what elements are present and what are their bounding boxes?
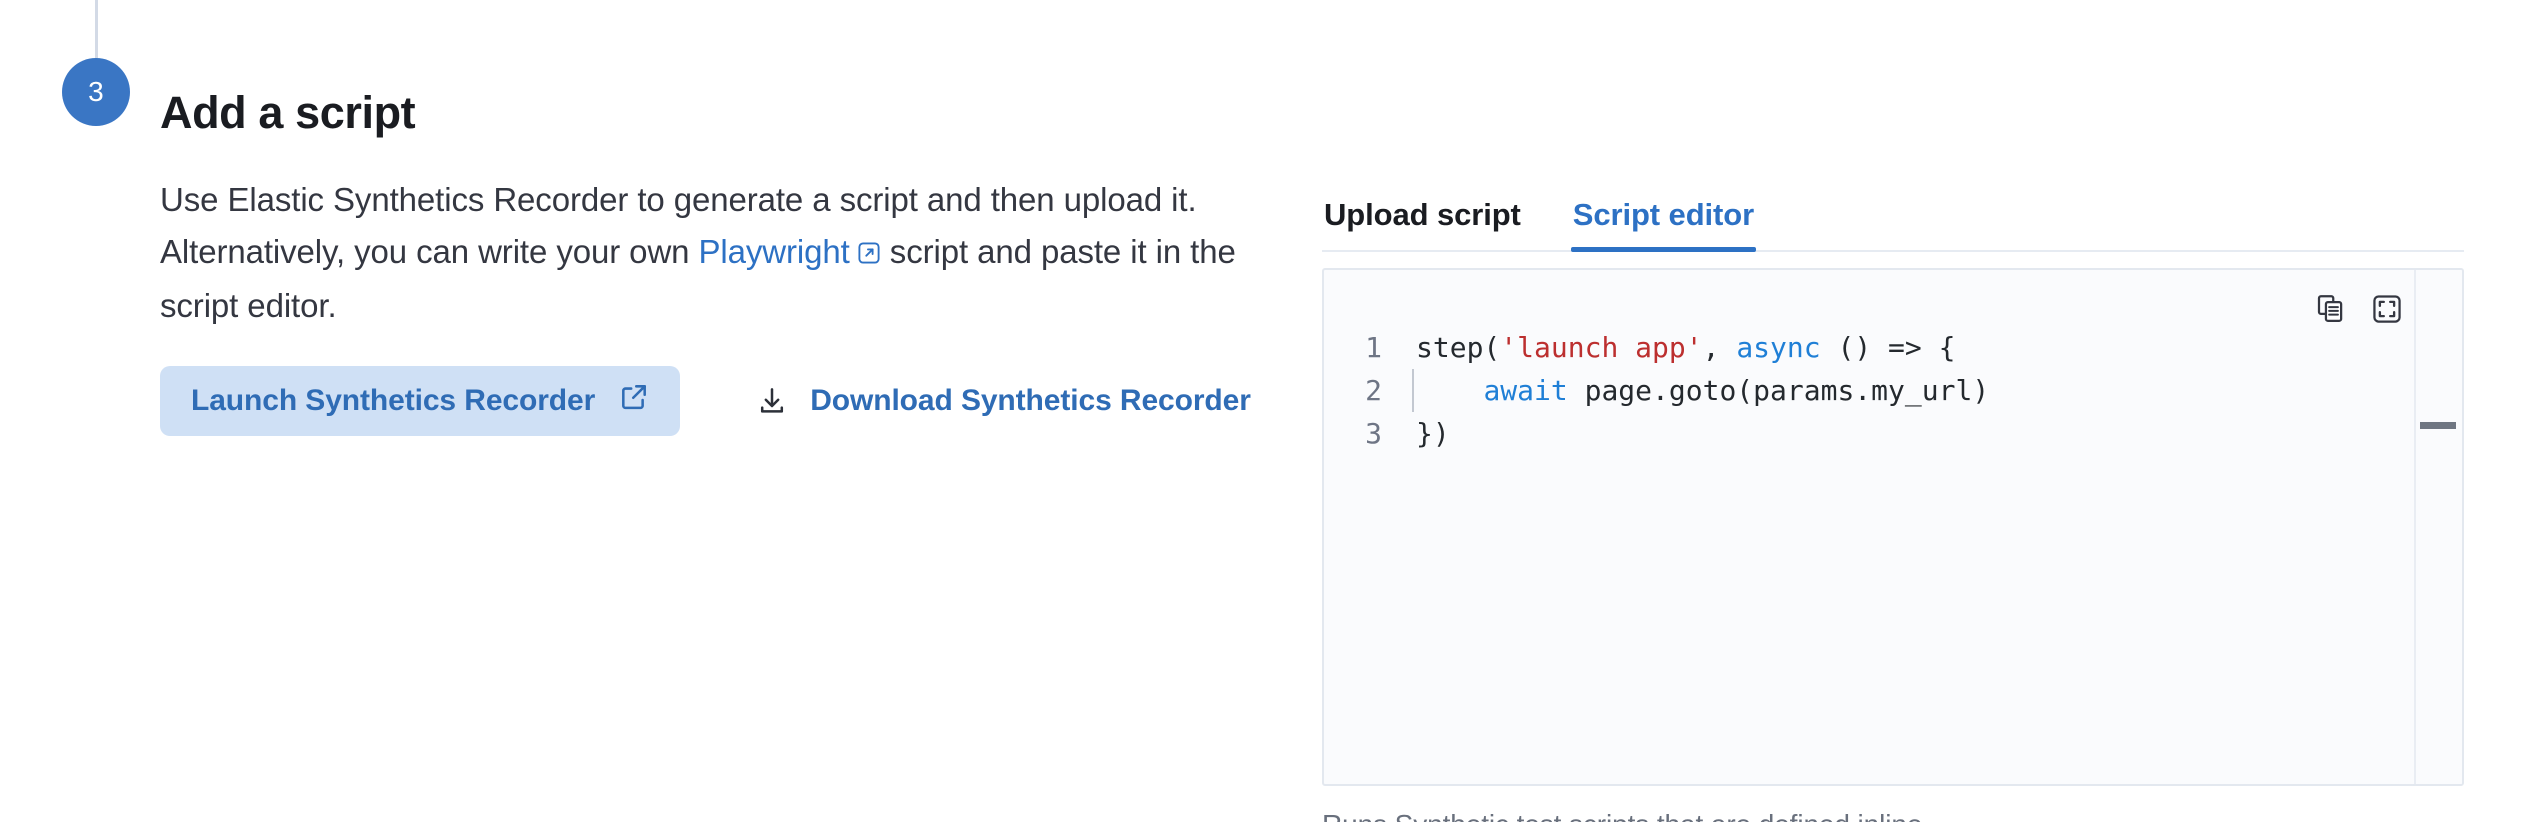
launch-synthetics-recorder-button[interactable]: Launch Synthetics Recorder — [160, 366, 680, 436]
code-content[interactable]: 1 step('launch app', async () => { 2 awa… — [1324, 270, 2414, 784]
step-connector-line — [95, 0, 98, 58]
editor-help-text: Runs Synthetic test scripts that are def… — [1322, 809, 2464, 822]
tab-upload-script[interactable]: Upload script — [1322, 199, 1523, 250]
action-button-row: Launch Synthetics Recorder Download Synt… — [160, 366, 1251, 436]
code-line: 2 await page.goto(params.my_url) — [1324, 369, 2414, 412]
code-line-text: await page.goto(params.my_url) — [1416, 369, 1989, 412]
scrollbar-thumb[interactable] — [2420, 422, 2456, 429]
external-link-icon — [857, 228, 881, 280]
step-number-label: 3 — [88, 76, 104, 108]
keyword-token: async — [1736, 331, 1820, 364]
external-link-icon — [619, 382, 649, 420]
description-paragraph: Use Elastic Synthetics Recorder to gener… — [160, 174, 1270, 332]
download-synthetics-recorder-button[interactable]: Download Synthetics Recorder — [756, 366, 1251, 436]
line-number: 1 — [1324, 326, 1416, 369]
script-source-tabs: Upload script Script editor — [1322, 176, 2464, 252]
line-number: 2 — [1324, 369, 1416, 412]
page-title: Add a script — [160, 86, 415, 140]
code-line-text: }) — [1416, 412, 1450, 455]
code-line: 1 step('launch app', async () => { — [1324, 326, 2414, 369]
step-number-badge: 3 — [62, 58, 130, 126]
code-editor[interactable]: 1 step('launch app', async () => { 2 awa… — [1322, 268, 2464, 786]
download-icon — [756, 385, 788, 417]
add-script-step-page: 3 Add a script Use Elastic Synthetics Re… — [0, 0, 2538, 822]
line-number: 3 — [1324, 412, 1416, 455]
left-column: Use Elastic Synthetics Recorder to gener… — [160, 174, 1270, 332]
editor-scrollbar[interactable] — [2414, 270, 2462, 784]
script-panel: Upload script Script editor — [1322, 176, 2464, 822]
download-synthetics-recorder-label: Download Synthetics Recorder — [810, 384, 1251, 418]
copy-to-clipboard-icon[interactable] — [2314, 292, 2348, 326]
playwright-link[interactable]: Playwright — [699, 233, 881, 270]
indent-guide — [1412, 369, 1414, 412]
fullscreen-icon[interactable] — [2370, 292, 2404, 326]
code-line-text: step('launch app', async () => { — [1416, 326, 1955, 369]
code-editor-toolbar — [2314, 292, 2404, 326]
code-line: 3 }) — [1324, 412, 2414, 455]
string-token: 'launch app' — [1500, 331, 1702, 364]
keyword-token: await — [1483, 374, 1567, 407]
launch-synthetics-recorder-label: Launch Synthetics Recorder — [191, 384, 595, 418]
playwright-link-label: Playwright — [699, 233, 850, 270]
tab-script-editor[interactable]: Script editor — [1571, 199, 1756, 250]
